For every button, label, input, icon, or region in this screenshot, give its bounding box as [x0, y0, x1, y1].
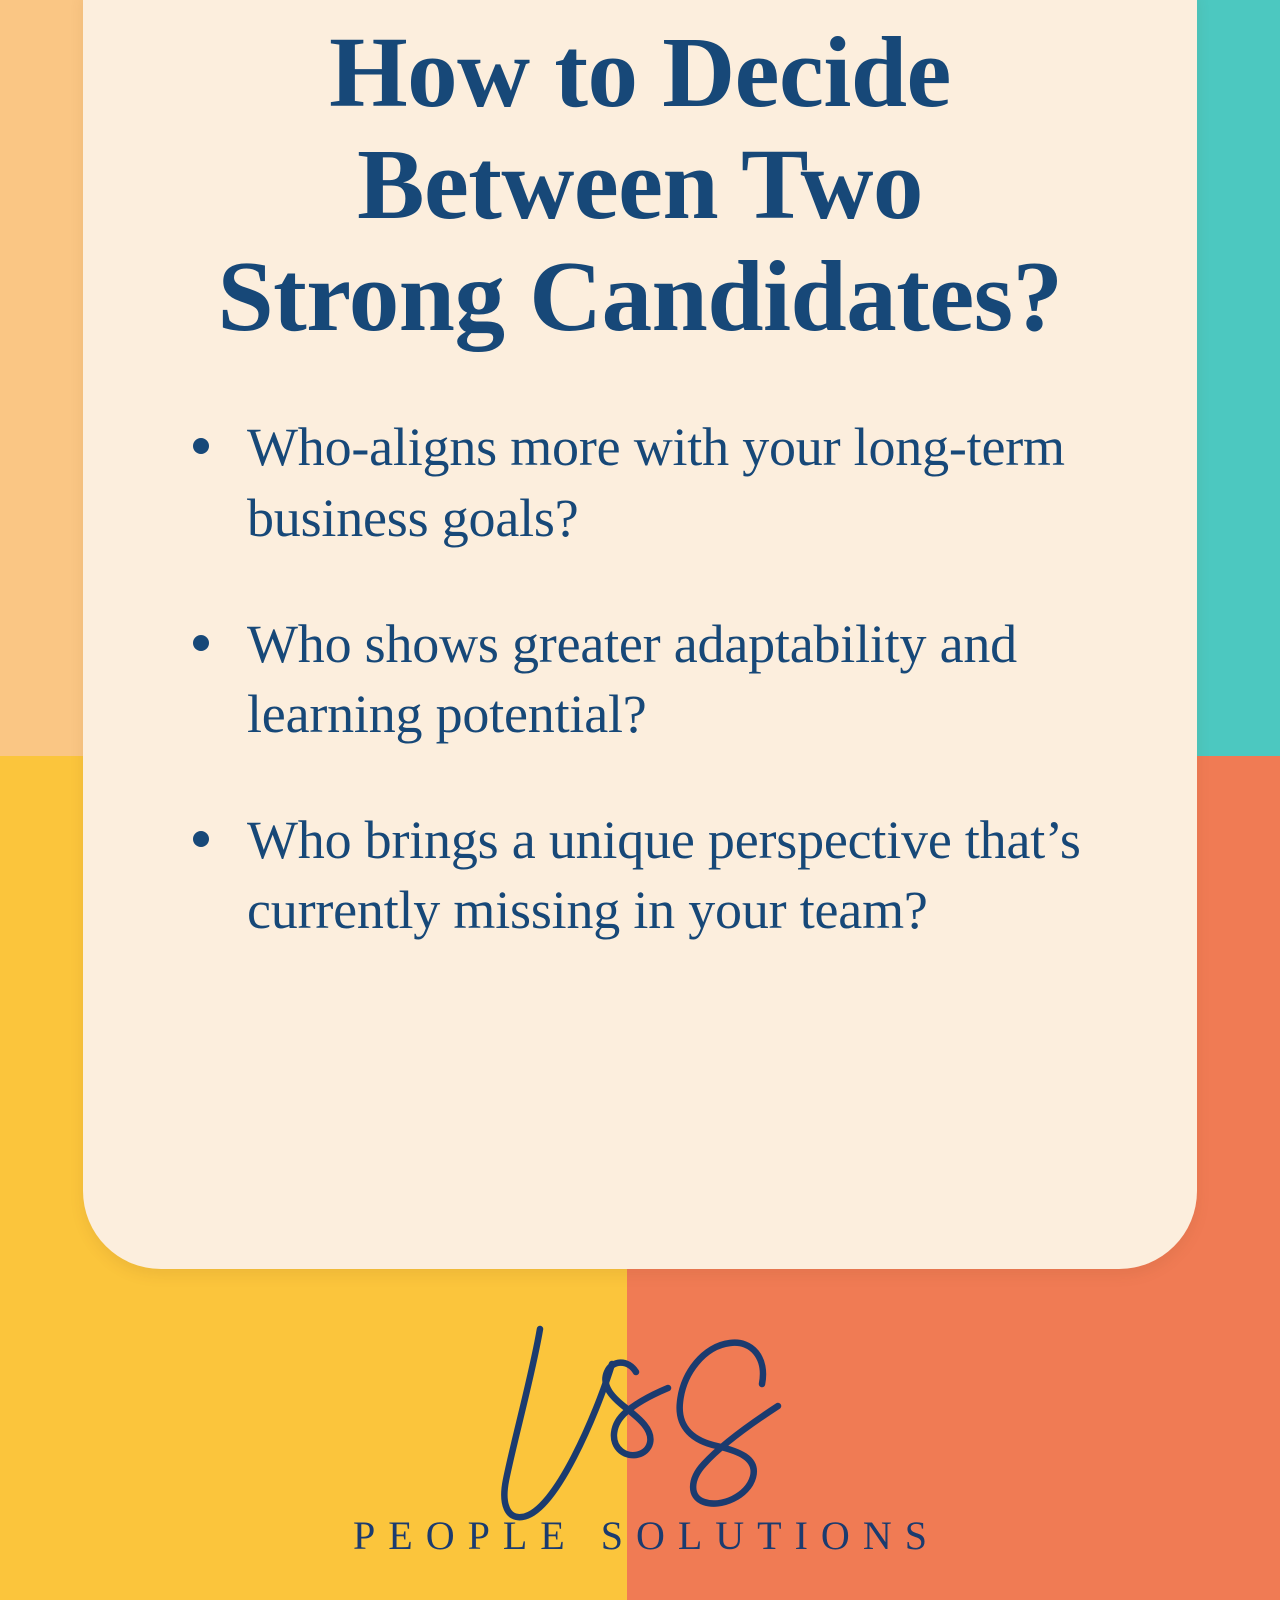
list-item-text: Who shows greater adaptability and learn…	[247, 614, 1017, 744]
title-line-3: Strong Candidates?	[105, 240, 1175, 352]
list-item-text: Who-aligns more with your long-term busi…	[247, 417, 1065, 547]
title-line-1: How to Decide	[105, 16, 1175, 128]
title-line-2: Between Two	[105, 128, 1175, 240]
page-title: How to Decide Between Two Strong Candida…	[83, 0, 1197, 352]
bullet-dot-icon	[193, 635, 209, 651]
bullet-dot-icon	[193, 438, 209, 454]
bullet-dot-icon	[193, 831, 209, 847]
content-card: How to Decide Between Two Strong Candida…	[83, 0, 1197, 1269]
list-item: Who-aligns more with your long-term busi…	[175, 412, 1127, 552]
poster-canvas: How to Decide Between Two Strong Candida…	[0, 0, 1280, 1600]
list-item-text: Who brings a unique perspective that’s c…	[247, 810, 1081, 940]
list-item: Who brings a unique perspective that’s c…	[175, 805, 1127, 945]
list-item: Who shows greater adaptability and learn…	[175, 609, 1127, 749]
question-list: Who-aligns more with your long-term busi…	[83, 352, 1197, 945]
